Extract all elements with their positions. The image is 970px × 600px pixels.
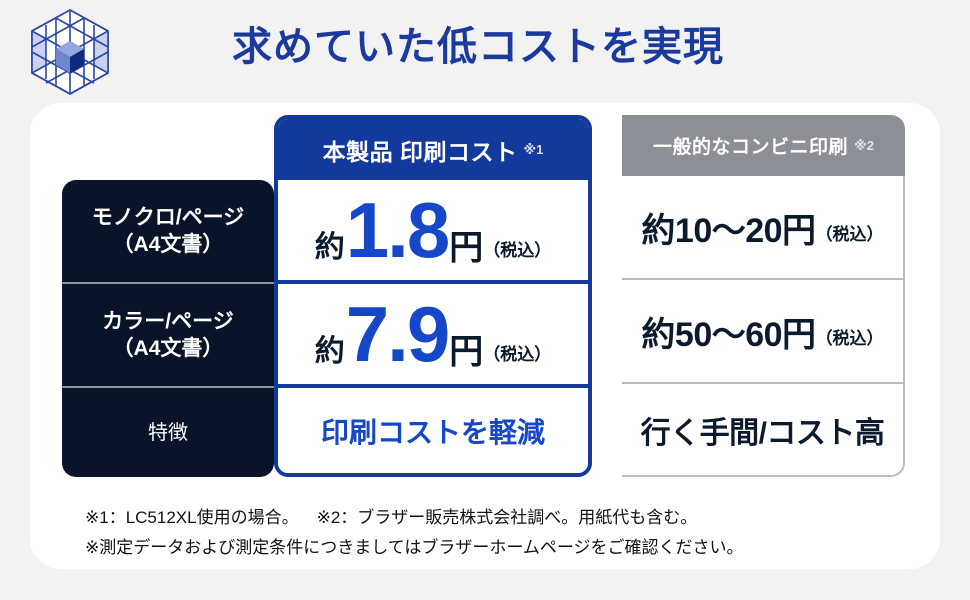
row-label-line2: （A4文書） (113, 231, 224, 258)
cost-amount: 約50〜60円 (641, 307, 815, 356)
table-row-label-color: カラー/ページ （A4文書） (62, 284, 274, 388)
konbini-feature-cell: 行く手間/コスト高 (622, 384, 905, 477)
product-cost-column: 本製品 印刷コスト ※1 約 1.8 円 （税込） 約 7.9 円 （税込） 印… (274, 115, 592, 477)
isometric-cube-lattice-logo (22, 8, 118, 96)
footnote-line-2: ※測定データおよび測定条件につきましてはブラザーホームページをご確認ください。 (85, 533, 744, 563)
table-row-label-feature: 特徴 (62, 388, 274, 477)
cost-tax-note: （税込） (483, 340, 551, 365)
table-row-label-monochrome: モノクロ/ページ （A4文書） (62, 180, 274, 284)
cost-tax-note: （税込） (816, 220, 884, 245)
page-title: 求めていた低コストを実現 (232, 20, 724, 74)
konbini-cost-color: 約50〜60円 （税込） (622, 280, 905, 384)
product-feature-text: 印刷コストを軽減 (321, 411, 545, 451)
footnote-line-1: ※1：LC512XL使用の場合。※2：ブラザー販売株式会社調べ。用紙代も含む。 (85, 503, 744, 533)
cost-value: 1.8 (346, 191, 448, 269)
product-cost-monochrome: 約 1.8 円 （税込） (278, 180, 588, 284)
product-cost-color: 約 7.9 円 （税込） (278, 284, 588, 388)
cost-tax-note: （税込） (483, 236, 551, 261)
konbini-feature-text: 行く手間/コスト高 (641, 408, 885, 452)
footnote-2-text: ※2：ブラザー販売株式会社調べ。用紙代も含む。 (317, 508, 698, 527)
konbini-column-footnote-ref: ※2 (854, 138, 874, 154)
cost-amount: 約10〜20円 (641, 203, 815, 252)
row-label-column: モノクロ/ページ （A4文書） カラー/ページ （A4文書） 特徴 (62, 180, 274, 477)
konbini-cost-monochrome: 約10〜20円 （税込） (622, 176, 905, 280)
cost-unit: 円 (449, 324, 483, 373)
page-header: 求めていた低コストを実現 (0, 0, 970, 103)
row-label-line1: カラー/ページ (102, 308, 233, 335)
konbini-column-header-label: 一般的なコンビニ印刷 (653, 132, 848, 159)
row-label-line1: モノクロ/ページ (92, 204, 244, 231)
footnote-1-text: ※1：LC512XL使用の場合。 (85, 508, 299, 527)
cost-prefix: 約 (315, 326, 345, 370)
konbini-cost-column: 一般的なコンビニ印刷 ※2 約10〜20円 （税込） 約50〜60円 （税込） … (592, 115, 905, 477)
cost-tax-note: （税込） (816, 324, 884, 349)
row-label-line2: （A4文書） (113, 335, 224, 362)
product-column-header-label: 本製品 印刷コスト (323, 133, 518, 167)
konbini-column-header: 一般的なコンビニ印刷 ※2 (622, 115, 905, 176)
product-column-footnote-ref: ※1 (524, 142, 544, 158)
cost-prefix: 約 (315, 222, 345, 266)
cost-comparison-card: モノクロ/ページ （A4文書） カラー/ページ （A4文書） 特徴 本製品 印刷… (30, 103, 940, 569)
footnotes: ※1：LC512XL使用の場合。※2：ブラザー販売株式会社調べ。用紙代も含む。 … (85, 503, 744, 563)
product-feature-cell: 印刷コストを軽減 (278, 388, 588, 473)
cost-unit: 円 (449, 220, 483, 269)
product-column-header: 本製品 印刷コスト ※1 (278, 119, 588, 180)
cost-value: 7.9 (346, 295, 448, 373)
row-label-line1: 特徴 (148, 420, 188, 446)
